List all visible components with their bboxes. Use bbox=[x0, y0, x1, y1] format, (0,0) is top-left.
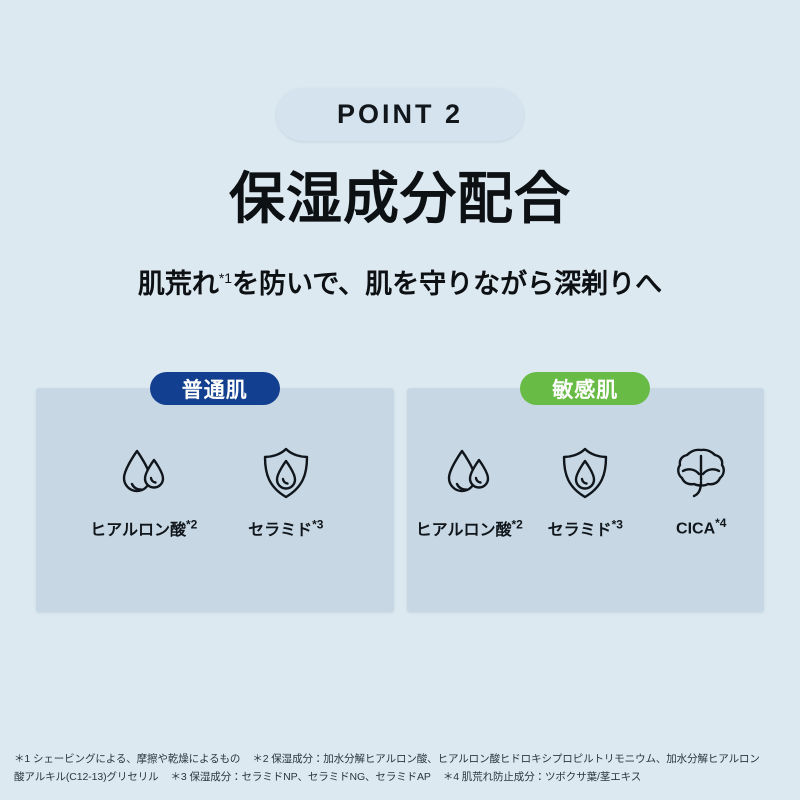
page-subtitle: 肌荒れ*1を防いで、肌を守りながら深剃りへ bbox=[0, 262, 800, 301]
subtitle-footnote-mark: *1 bbox=[219, 270, 232, 286]
ingredient-footnote-mark: *3 bbox=[612, 518, 623, 532]
footnote-3: ＊3 保湿成分：セラミドNP、セラミドNG、セラミドAP bbox=[171, 771, 431, 783]
ingredient-item: CICA*4 bbox=[643, 442, 759, 538]
water-drops-icon bbox=[440, 442, 498, 504]
panel-badge-normal-skin: 普通肌 bbox=[150, 372, 280, 405]
shield-drop-icon bbox=[557, 442, 613, 504]
ingredient-label-text: セラミド bbox=[548, 522, 612, 539]
point-badge: POINT 2 bbox=[276, 88, 524, 141]
footnote-line-1: ＊1 シェービングによる、摩擦や乾燥によるもの＊2 保湿成分：加水分解ヒアルロン… bbox=[14, 750, 790, 768]
footnote-2-continued: 酸アルキル(C12-13)グリセリル bbox=[14, 771, 159, 783]
ingredient-item: ヒアルロン酸*2 bbox=[411, 442, 527, 540]
ingredient-label-text: ヒアルロン酸 bbox=[90, 522, 186, 539]
panel-badge-sensitive-skin: 敏感肌 bbox=[520, 372, 650, 405]
ingredient-label: CICA*4 bbox=[676, 516, 726, 538]
panel-normal-skin: 普通肌 ヒアルロン酸*2 bbox=[36, 388, 394, 612]
ingredient-label: ヒアルロン酸*2 bbox=[416, 516, 523, 540]
panel-sensitive-skin: 敏感肌 ヒアルロン酸*2 bbox=[407, 388, 765, 612]
point2-promo-page: POINT 2 保湿成分配合 肌荒れ*1を防いで、肌を守りながら深剃りへ 普通肌 bbox=[0, 0, 800, 800]
point-badge-container: POINT 2 bbox=[0, 88, 800, 141]
footnote-4: ＊4 肌荒れ防止成分：ツボクサ葉/茎エキス bbox=[443, 771, 641, 783]
ingredient-footnote-mark: *3 bbox=[312, 518, 323, 532]
page-title: 保湿成分配合 bbox=[0, 168, 800, 230]
ingredient-panels: 普通肌 ヒアルロン酸*2 bbox=[36, 388, 764, 612]
footnote-line-2: 酸アルキル(C12-13)グリセリル＊3 保湿成分：セラミドNP、セラミドNG、… bbox=[14, 768, 790, 786]
panel-sensitive-skin-items: ヒアルロン酸*2 セラミド*3 bbox=[407, 442, 765, 540]
ingredient-item: セラミド*3 bbox=[215, 442, 357, 540]
water-drops-icon bbox=[115, 442, 173, 504]
footnotes: ＊1 シェービングによる、摩擦や乾燥によるもの＊2 保湿成分：加水分解ヒアルロン… bbox=[14, 750, 790, 787]
ingredient-label: セラミド*3 bbox=[248, 516, 323, 540]
footnote-2: ＊2 保湿成分：加水分解ヒアルロン酸、ヒアルロン酸ヒドロキシプロピルトリモニウム… bbox=[252, 753, 759, 765]
subtitle-text-after: を防いで、肌を守りながら深剃りへ bbox=[232, 269, 662, 299]
subtitle-text-before: 肌荒れ bbox=[138, 269, 219, 299]
footnote-1: ＊1 シェービングによる、摩擦や乾燥によるもの bbox=[14, 753, 240, 765]
ingredient-footnote-mark: *2 bbox=[512, 518, 523, 532]
ingredient-label-text: ヒアルロン酸 bbox=[416, 522, 512, 539]
ingredient-label: ヒアルロン酸*2 bbox=[90, 516, 197, 540]
ingredient-footnote-mark: *2 bbox=[186, 518, 197, 532]
ingredient-label: セラミド*3 bbox=[548, 516, 623, 540]
ingredient-footnote-mark: *4 bbox=[715, 516, 726, 530]
panel-normal-skin-items: ヒアルロン酸*2 セラミド*3 bbox=[36, 442, 394, 540]
ingredient-item: ヒアルロン酸*2 bbox=[73, 442, 215, 540]
ingredient-label-text: CICA bbox=[676, 520, 715, 537]
ingredient-label-text: セラミド bbox=[248, 522, 312, 539]
cica-leaf-icon bbox=[672, 442, 730, 504]
ingredient-item: セラミド*3 bbox=[527, 442, 643, 540]
shield-drop-icon bbox=[258, 442, 314, 504]
